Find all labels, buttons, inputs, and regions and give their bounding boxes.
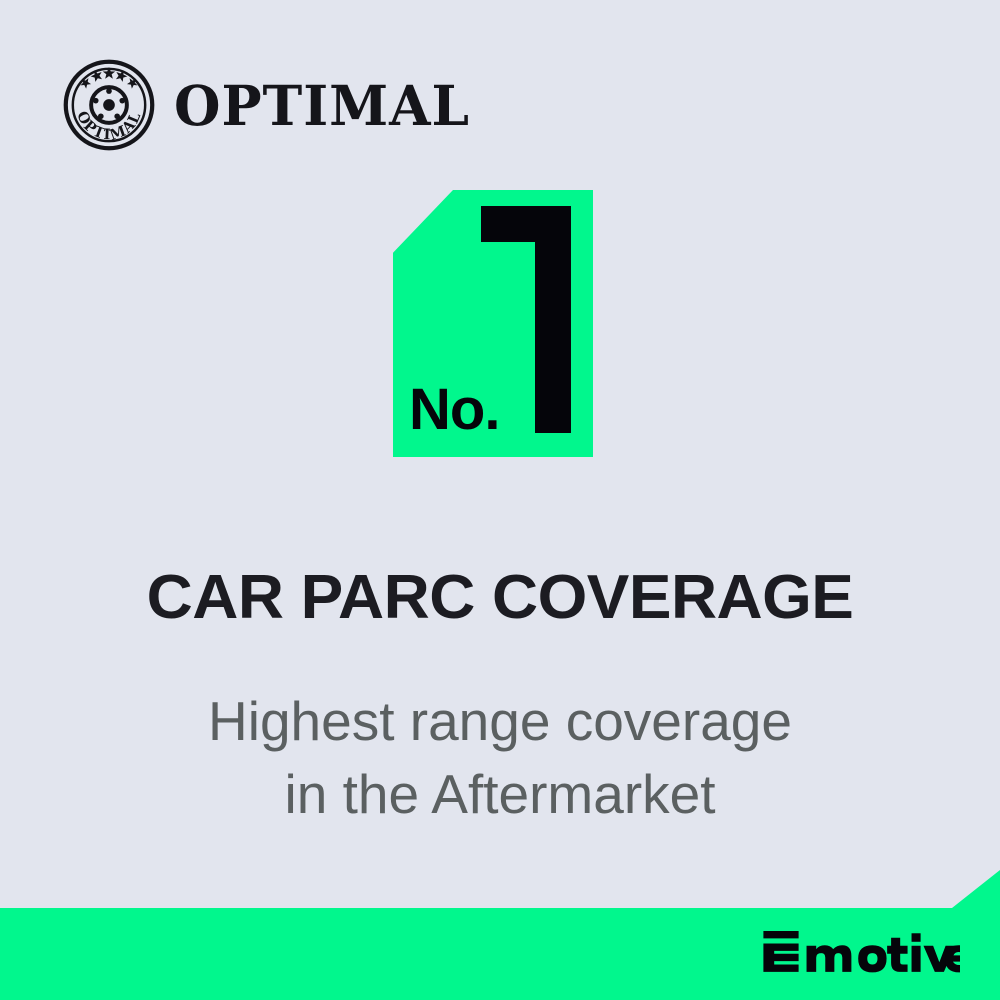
page-title: CAR PARC COVERAGE	[0, 566, 1000, 629]
subtitle: Highest range coverage in the Aftermarke…	[0, 685, 1000, 831]
optimal-wheel-badge-icon: OPTIMAL	[62, 58, 156, 152]
brand-wordmark: OPTIMAL	[174, 78, 470, 133]
rank-prefix-label: No.	[409, 381, 499, 439]
emotive-wordmark-icon	[760, 931, 960, 973]
promo-card: OPTIMAL OPTIMAL No. CAR PARC COVERAGE Hi…	[0, 0, 1000, 1000]
subtitle-line-1: Highest range coverage	[0, 685, 1000, 758]
rank-badge: No.	[393, 190, 593, 457]
brand-header: OPTIMAL OPTIMAL	[62, 58, 479, 152]
subtitle-line-2: in the Aftermarket	[0, 758, 1000, 831]
